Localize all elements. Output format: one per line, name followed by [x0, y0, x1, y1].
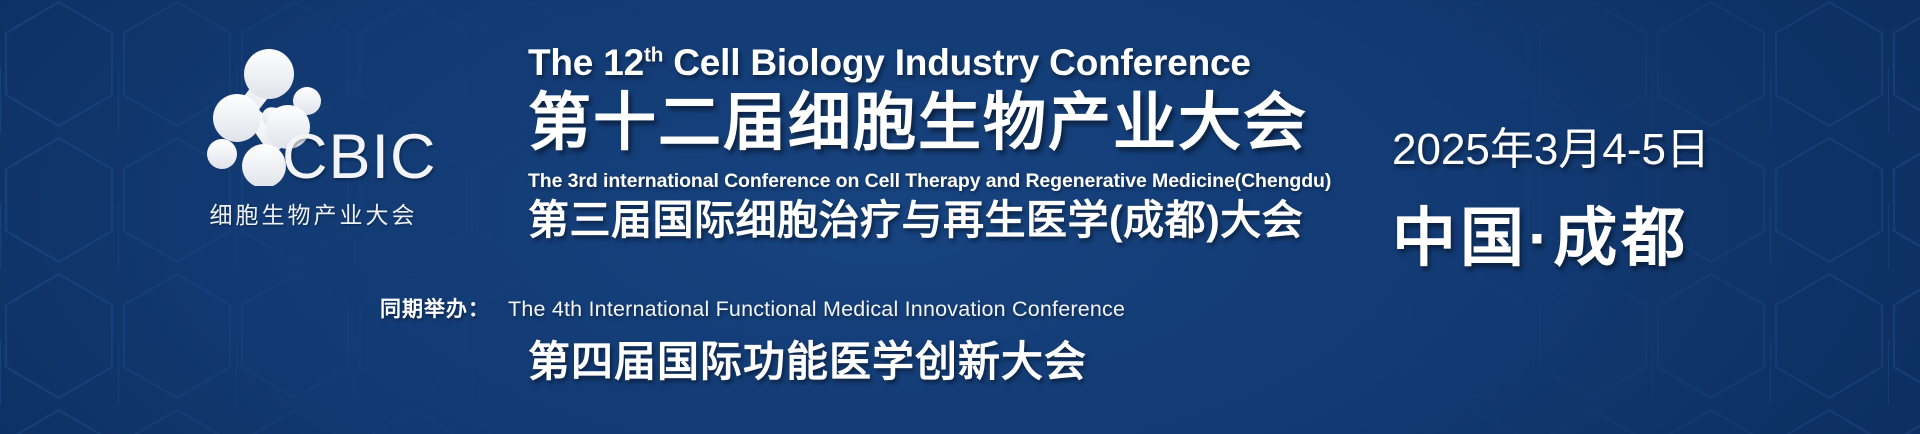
english-main-title: The 12th Cell Biology Industry Conferenc…: [528, 44, 1358, 83]
concurrent-english-title: The 4th International Functional Medical…: [508, 297, 1125, 322]
event-city: 中国·成都: [1392, 206, 1752, 270]
chinese-main-title: 第十二届细胞生物产业大会: [528, 89, 1358, 157]
concurrent-label: 同期举办：: [380, 293, 490, 323]
english-second-title: The 3rd international Conference on Cell…: [528, 171, 1358, 192]
concurrent-conference-row: 同期举办： The 4th International Functional M…: [380, 293, 1125, 323]
banner-content: CBIC 细胞生物产业大会 The 12th Cell Biology Indu…: [0, 0, 1920, 434]
concurrent-chinese-title: 第四届国际功能医学创新大会: [528, 328, 1087, 389]
title-column: The 12th Cell Biology Industry Conferenc…: [528, 44, 1358, 244]
event-info-column: 2025年3月4-5日 中国·成都: [1392, 128, 1752, 270]
ordinal-suffix: th: [644, 44, 663, 67]
conference-banner: CBIC 细胞生物产业大会 The 12th Cell Biology Indu…: [0, 0, 1920, 434]
cbic-logo-block: CBIC 细胞生物产业大会: [196, 48, 431, 233]
english-main-title-prefix: The 12: [528, 42, 644, 83]
cbic-wordmark: CBIC: [282, 126, 437, 189]
cbic-chinese-name: 细胞生物产业大会: [196, 196, 431, 230]
english-main-title-suffix: Cell Biology Industry Conference: [663, 42, 1251, 83]
event-date: 2025年3月4-5日: [1392, 128, 1752, 172]
chinese-second-title: 第三届国际细胞治疗与再生医学(成都)大会: [528, 198, 1358, 244]
